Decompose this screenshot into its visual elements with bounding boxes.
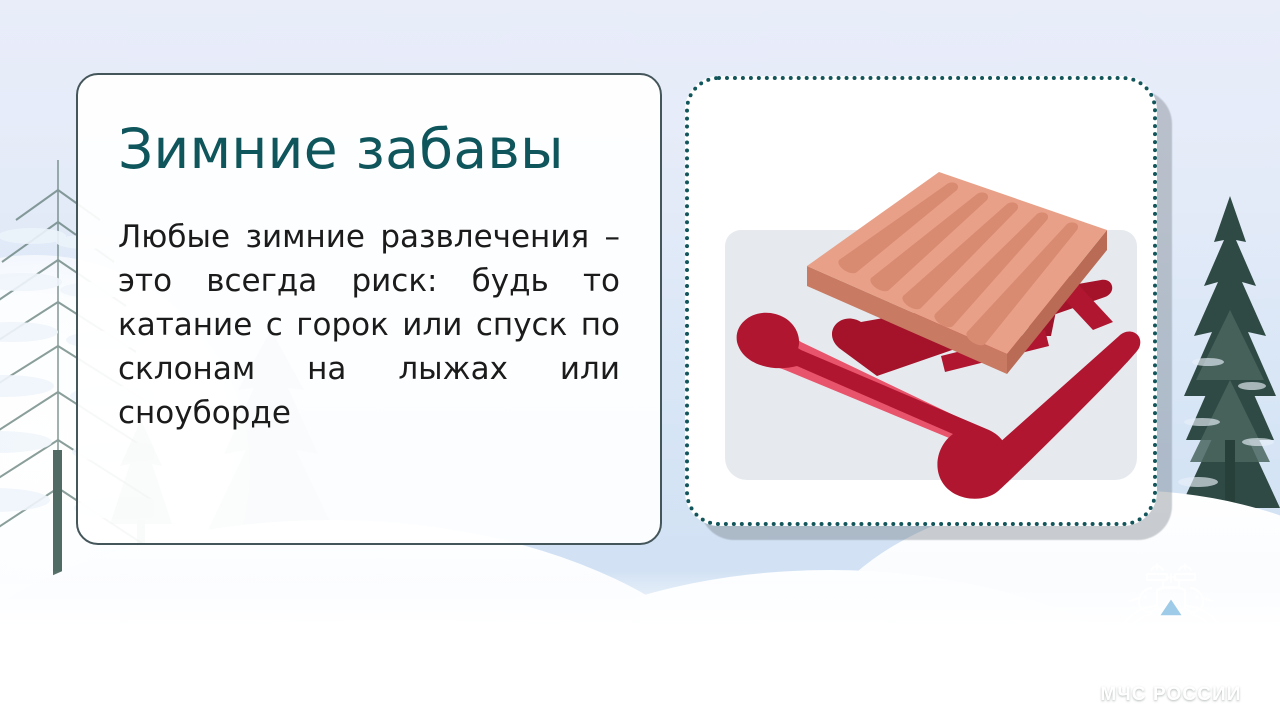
text-card: Зимние забавы Любые зимние развлечения –… xyxy=(76,73,662,545)
sled-illustration xyxy=(689,80,1153,522)
page-title: Зимние забавы xyxy=(118,121,620,179)
emercom-logo: МЧС РОССИИ xyxy=(1078,530,1264,706)
illustration-card xyxy=(685,76,1157,526)
emercom-logo-text: МЧС РОССИИ xyxy=(1100,684,1241,706)
slide-winter-fun: Зимние забавы Любые зимние развлечения –… xyxy=(0,0,1280,720)
body-paragraph: Любые зимние развлечения – это всегда ри… xyxy=(118,215,620,435)
emercom-eagle-icon xyxy=(1107,554,1235,682)
